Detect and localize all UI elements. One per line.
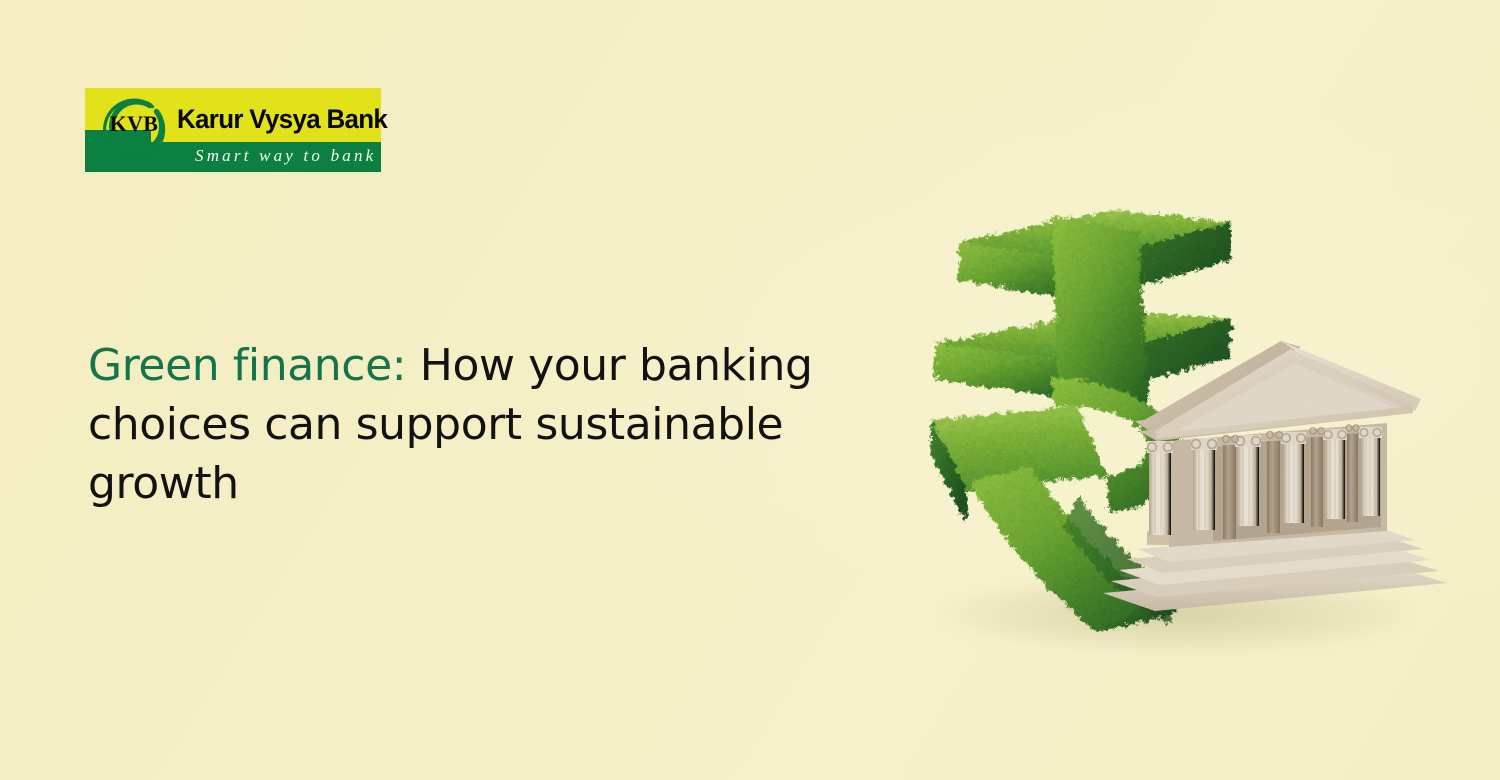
kvb-logo[interactable]: KVB Karur Vysya Bank Smart way to bank	[85, 88, 381, 172]
bank-building-icon	[1095, 335, 1455, 625]
logo-bank-name: Karur Vysya Bank	[177, 104, 387, 135]
hero-illustration	[900, 175, 1460, 665]
headline-accent: Green finance:	[88, 340, 406, 391]
page-title: Green finance: How your banking choices …	[88, 336, 878, 513]
logo-tagline: Smart way to bank	[195, 146, 376, 166]
logo-mark-text: KVB	[102, 113, 166, 135]
green-finance-banner: KVB Karur Vysya Bank Smart way to bank G…	[0, 0, 1500, 780]
